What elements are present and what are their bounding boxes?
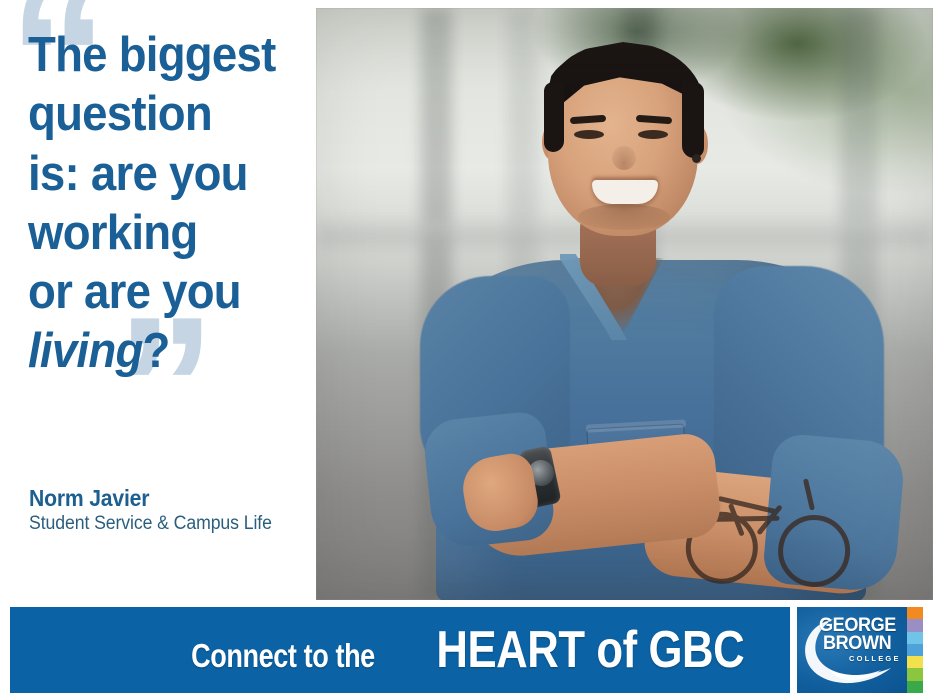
quote-line-2: question xyxy=(28,85,287,144)
logo-stripe-2 xyxy=(907,619,923,631)
logo-line-college: COLLEGE xyxy=(849,655,901,662)
quote-text: The biggest question is: are you working… xyxy=(28,26,287,382)
subject-eye-left xyxy=(574,130,604,139)
photo-subject xyxy=(316,8,933,600)
logo-stripe-7 xyxy=(907,681,923,693)
logo-line-brown: BROWN xyxy=(823,635,897,653)
logo-stripe-5 xyxy=(907,656,923,668)
quote-panel: “ ” The biggest question is: are you wor… xyxy=(0,0,316,600)
quote-line-3: is: are you xyxy=(28,145,287,204)
attribution-role: Student Service & Campus Life xyxy=(29,513,272,536)
bottom-white-margin xyxy=(0,693,933,700)
portrait-photo xyxy=(316,8,933,600)
banner-main-text: HEART of GBC xyxy=(437,620,745,680)
logo-wordmark: GEORGE BROWN COLLEGE xyxy=(819,617,901,663)
subject-nose xyxy=(612,146,636,170)
subject-hair-side-left xyxy=(544,82,564,152)
quote-line-6: living? xyxy=(28,322,287,381)
poster-canvas: “ ” The biggest question is: are you wor… xyxy=(0,0,933,700)
logo-mark: GEORGE BROWN COLLEGE xyxy=(797,607,907,693)
subject-smile xyxy=(592,180,658,204)
subject-eye-right xyxy=(638,130,668,139)
logo-stripe-3 xyxy=(907,632,923,644)
quote-line-5: or are you xyxy=(28,263,287,322)
logo-color-stripes xyxy=(907,607,923,693)
logo-stripe-6 xyxy=(907,668,923,680)
logo-stripe-4 xyxy=(907,644,923,656)
subject-earring xyxy=(692,154,701,163)
quote-question-mark: ? xyxy=(143,324,170,378)
quote-line-1: The biggest xyxy=(28,26,287,85)
logo-stripe-1 xyxy=(907,607,923,619)
attribution: Norm Javier Student Service & Campus Lif… xyxy=(29,485,290,536)
banner-lead-text: Connect to the xyxy=(192,637,376,675)
tattoo-wheel-front xyxy=(774,511,854,591)
tattoo-handlebar xyxy=(803,478,815,510)
bottom-banner: Connect to the HEART of GBC xyxy=(10,607,790,693)
george-brown-college-logo: GEORGE BROWN COLLEGE xyxy=(797,607,923,693)
quote-line-4: working xyxy=(28,204,287,263)
subject-chin-shadow xyxy=(578,204,670,230)
attribution-name: Norm Javier xyxy=(29,485,269,511)
quote-emphasis-word: living xyxy=(28,324,143,378)
banner-text: Connect to the HEART of GBC xyxy=(171,620,774,680)
subject-hair-side-right xyxy=(682,82,704,158)
